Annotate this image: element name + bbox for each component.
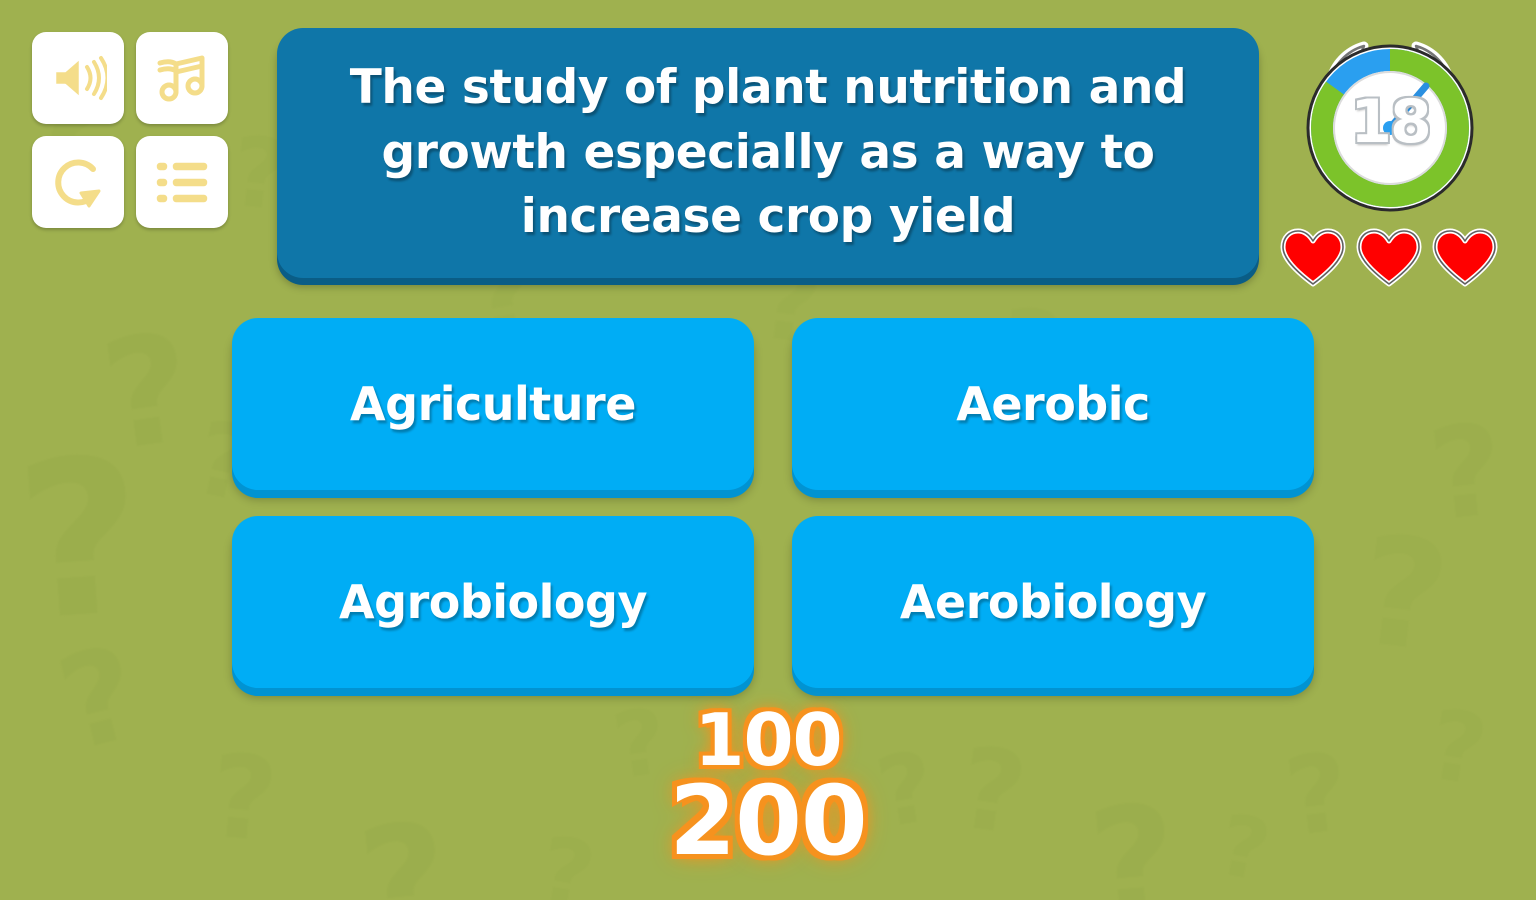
score-display: 100 200 — [0, 706, 1536, 868]
timer-widget: 18 — [1292, 24, 1488, 220]
answer-button-d[interactable]: Aerobiology — [792, 516, 1314, 688]
score-total: 200 — [669, 776, 866, 867]
answer-button-c[interactable]: Agrobiology — [232, 516, 754, 688]
heart-icon — [1355, 228, 1423, 288]
sound-button[interactable] — [32, 32, 124, 124]
answer-label: Aerobiology — [900, 575, 1206, 629]
question-text: The study of plant nutrition and growth … — [329, 56, 1207, 251]
sound-icon — [49, 52, 107, 104]
lives-display — [1279, 228, 1499, 288]
game-stage: The study of plant nutrition and growth … — [0, 0, 1536, 900]
music-button[interactable] — [136, 32, 228, 124]
menu-button[interactable] — [136, 136, 228, 228]
heart-icon — [1431, 228, 1499, 288]
heart-icon — [1279, 228, 1347, 288]
menu-icon — [153, 157, 211, 207]
restart-button[interactable] — [32, 136, 124, 228]
answer-options: Agriculture Aerobic Agrobiology Aerobiol… — [232, 318, 1314, 688]
alarm-clock-icon — [1292, 24, 1488, 220]
answer-button-a[interactable]: Agriculture — [232, 318, 754, 490]
answer-label: Agrobiology — [339, 575, 647, 629]
question-panel: The study of plant nutrition and growth … — [277, 28, 1259, 278]
answer-button-b[interactable]: Aerobic — [792, 318, 1314, 490]
toolbar — [32, 32, 228, 228]
answer-label: Agriculture — [350, 377, 636, 431]
answer-label: Aerobic — [956, 377, 1150, 431]
restart-icon — [49, 153, 107, 211]
music-icon — [154, 50, 210, 106]
